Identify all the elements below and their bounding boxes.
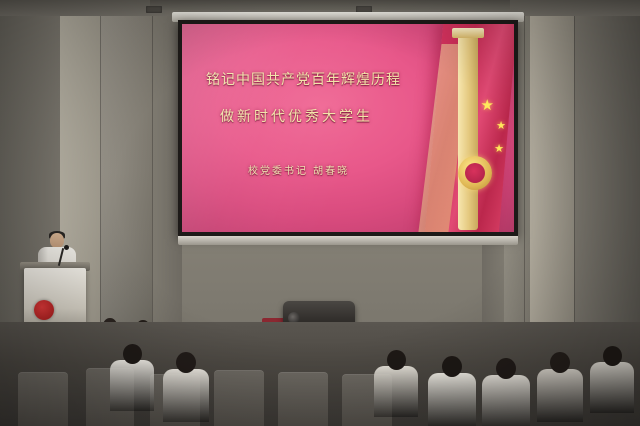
star-icon: ★ [481, 96, 494, 114]
audience-member-head [123, 344, 142, 364]
audience-member [537, 352, 583, 425]
gold-pillar [458, 34, 478, 230]
lectern [24, 268, 86, 326]
audience-member-body [374, 366, 418, 417]
projection-screen: ★ ★ ★ 铭记中国共产党百年辉煌历程 做新时代优秀大学生 校党委书记 胡春晓 [178, 20, 518, 252]
party-emblem-icon [458, 156, 492, 190]
chair-back [214, 370, 264, 426]
audience-member-body [590, 362, 634, 413]
audience-member-head [603, 346, 622, 366]
presenter-head [50, 233, 64, 248]
wall-seam [152, 0, 153, 322]
chair-back [18, 372, 68, 426]
audience-member-head [387, 350, 406, 370]
audience-member [110, 344, 154, 414]
star-icon: ★ [494, 142, 504, 155]
audience-member [590, 346, 634, 416]
slide-title-line-1: 铭记中国共产党百年辉煌历程 [206, 69, 401, 89]
screen-bottom-bar [178, 236, 518, 245]
ceiling-vent-icon [146, 6, 162, 13]
audience-member-head [496, 358, 516, 379]
audience-member-body [537, 369, 583, 422]
wall-panel-right-light [530, 0, 574, 335]
wall-panel-left-inner [100, 0, 152, 325]
audience-member [163, 352, 209, 425]
audience-member [428, 356, 476, 426]
slide-flag-graphic: ★ ★ ★ [396, 24, 514, 232]
slide-surface: ★ ★ ★ 铭记中国共产党百年辉煌历程 做新时代优秀大学生 校党委书记 胡春晓 [182, 24, 514, 232]
wall-seam [574, 0, 575, 336]
star-icon: ★ [496, 119, 506, 132]
lectern-emblem-icon [34, 300, 54, 320]
audience-member-head [550, 352, 570, 373]
wall-panel-right-outer [574, 0, 640, 345]
lecture-hall-photo: ★ ★ ★ 铭记中国共产党百年辉煌历程 做新时代优秀大学生 校党委书记 胡春晓 [0, 0, 640, 426]
audience-member [482, 358, 530, 426]
chair-back [278, 372, 328, 426]
audience-member-head [442, 356, 462, 377]
gold-pillar-cap [452, 28, 484, 38]
wall-seam [100, 0, 101, 326]
screen-frame: ★ ★ ★ 铭记中国共产党百年辉煌历程 做新时代优秀大学生 校党委书记 胡春晓 [178, 20, 518, 236]
audience-member-body [482, 375, 530, 426]
wall-seam [524, 0, 525, 330]
slide-title-line-2: 做新时代优秀大学生 [220, 106, 373, 126]
ceiling-strip [150, 0, 510, 10]
audience-member-head [176, 352, 196, 373]
audience-member-body [110, 360, 154, 411]
audience-member-body [428, 373, 476, 426]
party-emblem-inner [465, 163, 485, 183]
microphone-head-icon [64, 245, 69, 250]
slide-byline: 校党委书记 胡春晓 [248, 162, 349, 177]
audience-member [374, 350, 418, 420]
audience-member-body [163, 369, 209, 422]
